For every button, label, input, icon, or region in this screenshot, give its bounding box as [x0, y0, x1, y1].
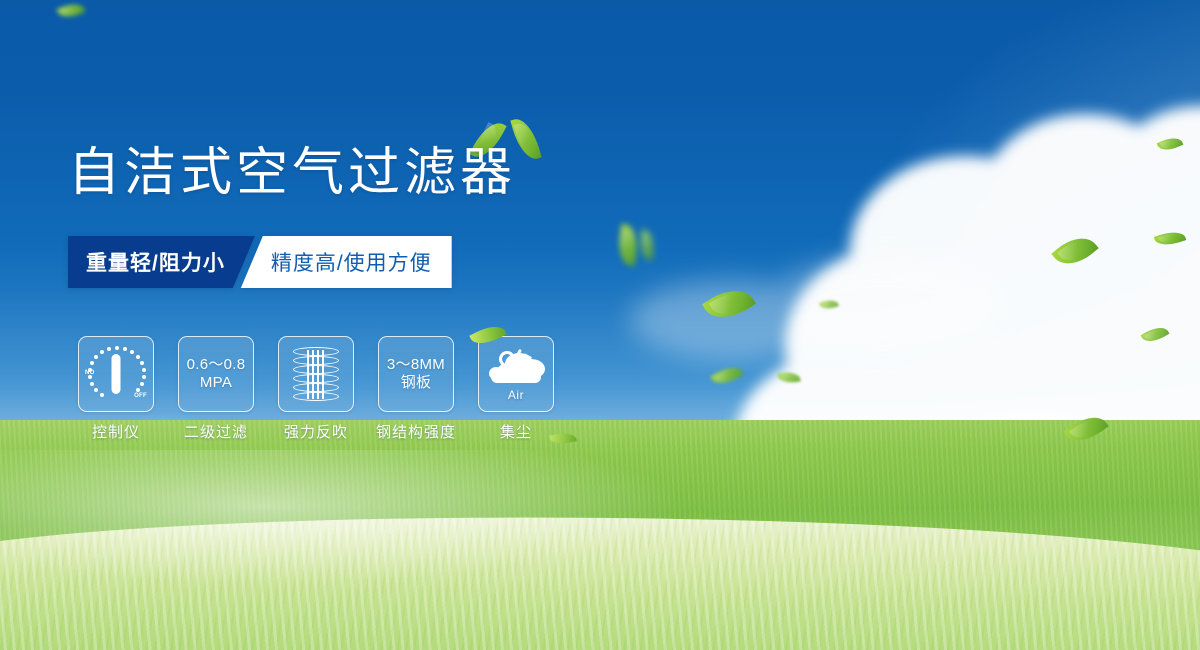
feature-item-two-stage[interactable]: 0.6～0.8 MPA 二级过滤 [178, 336, 254, 442]
subtitle-bar: 重量轻/阻力小 精度高/使用方便 [68, 236, 452, 288]
subtitle-secondary: 精度高/使用方便 [241, 236, 452, 288]
feature-label: 二级过滤 [184, 421, 248, 442]
subtitle-primary: 重量轻/阻力小 [68, 236, 255, 288]
gauge-dial-icon: NO OFF [86, 345, 146, 403]
product-banner: 自洁式空气过滤器 重量轻/阻力小 精度高/使用方便 [0, 0, 1200, 650]
gauge-needle [112, 354, 121, 394]
steel-material: 钢板 [401, 374, 432, 392]
gauge-label-off: OFF [134, 393, 147, 399]
feature-icon-box: 0.6～0.8 MPA [178, 336, 254, 412]
pressure-unit: MPA [200, 374, 232, 392]
feature-item-steel-strength[interactable]: 3～8MM 钢板 钢结构强度 [378, 336, 454, 442]
filter-stack-icon [293, 347, 339, 401]
feature-item-controller[interactable]: NO OFF 控制仪 [78, 336, 154, 442]
wispy-cloud-mid [620, 240, 1040, 410]
feature-icon-box: Air [478, 336, 554, 412]
feature-icon-box [278, 336, 354, 412]
air-cloud-icon [487, 347, 545, 387]
page-title: 自洁式空气过滤器 [68, 146, 516, 201]
air-text: Air [508, 388, 524, 402]
steel-thickness: 3～8MM [387, 356, 445, 374]
grass-field [0, 420, 1200, 650]
feature-icon-box: 3～8MM 钢板 [378, 336, 454, 412]
feature-label: 集尘 [500, 421, 532, 442]
pressure-value: 0.6～0.8 [187, 356, 246, 374]
feature-item-dust-collect[interactable]: Air 集尘 [478, 336, 554, 442]
hill-sun-glow [0, 450, 1200, 590]
gauge-label-no: NO [85, 370, 95, 376]
feature-label: 强力反吹 [284, 421, 348, 442]
feature-label: 控制仪 [92, 421, 140, 442]
feature-item-back-blow[interactable]: 强力反吹 [278, 336, 354, 442]
feature-list: NO OFF 控制仪 0.6～0.8 MPA 二级过滤 [78, 336, 554, 442]
feature-label: 钢结构强度 [376, 421, 456, 442]
feature-icon-box: NO OFF [78, 336, 154, 412]
